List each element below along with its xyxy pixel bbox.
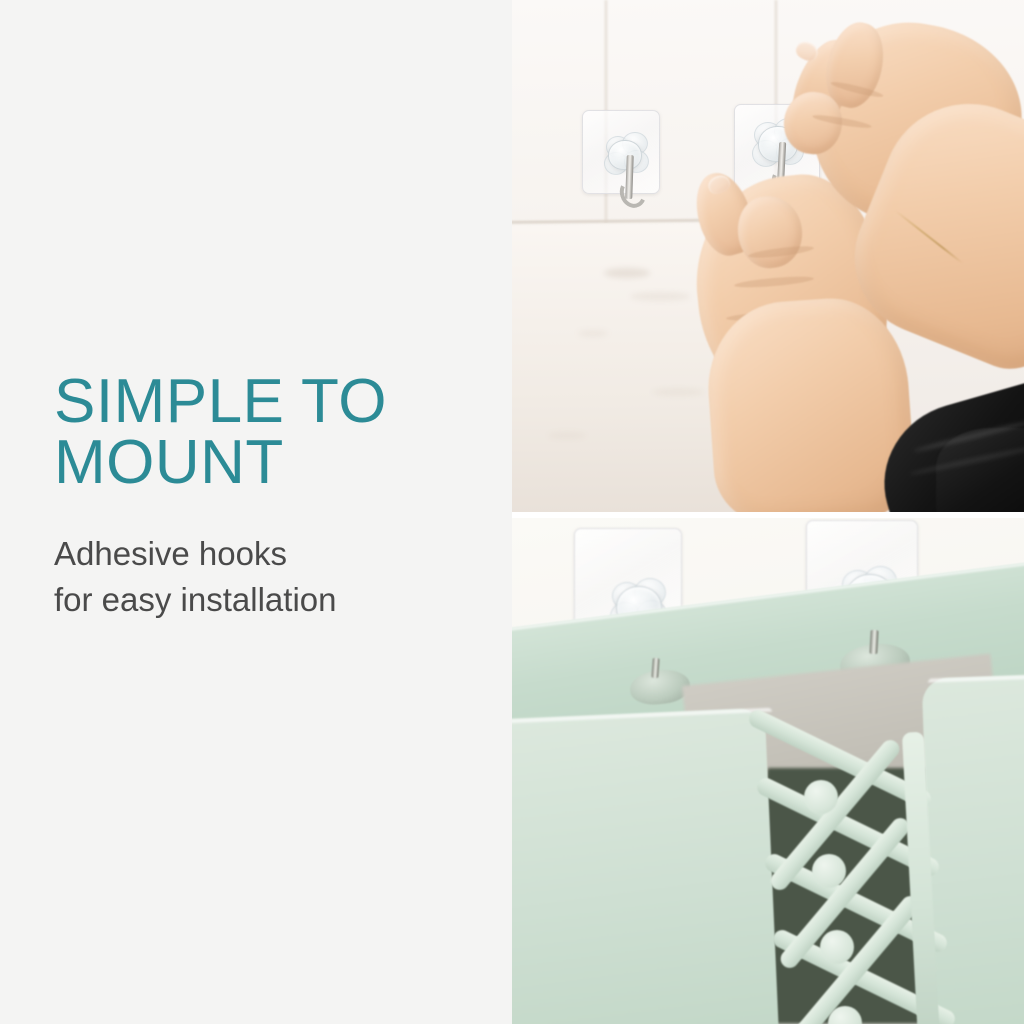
clear-hook-base-mounted — [608, 140, 642, 170]
shelf-front-left-panel — [512, 708, 779, 1024]
text-panel: SIMPLE TO MOUNT Adhesive hooks for easy … — [0, 0, 512, 1024]
photo-column — [512, 0, 1024, 1024]
photo-shelf-installed — [512, 518, 1024, 1024]
wall-smudge — [578, 330, 608, 337]
wall-smudge — [630, 292, 690, 301]
lattice-node — [804, 780, 838, 814]
subheadline: Adhesive hooks for easy installation — [54, 531, 484, 622]
wall-smudge — [604, 268, 650, 278]
wall-smudge — [652, 388, 704, 396]
photo-mounting-hook — [512, 0, 1024, 512]
shelf-front-right-panel — [922, 673, 1024, 1024]
lattice-node — [820, 930, 854, 964]
product-feature-card: SIMPLE TO MOUNT Adhesive hooks for easy … — [0, 0, 1024, 1024]
shelf-hook-tip-right — [869, 630, 878, 654]
headline: SIMPLE TO MOUNT — [54, 372, 484, 494]
lattice-node — [812, 854, 846, 888]
shelf-hook-tip-left — [651, 658, 659, 678]
wall-smudge — [548, 432, 586, 439]
